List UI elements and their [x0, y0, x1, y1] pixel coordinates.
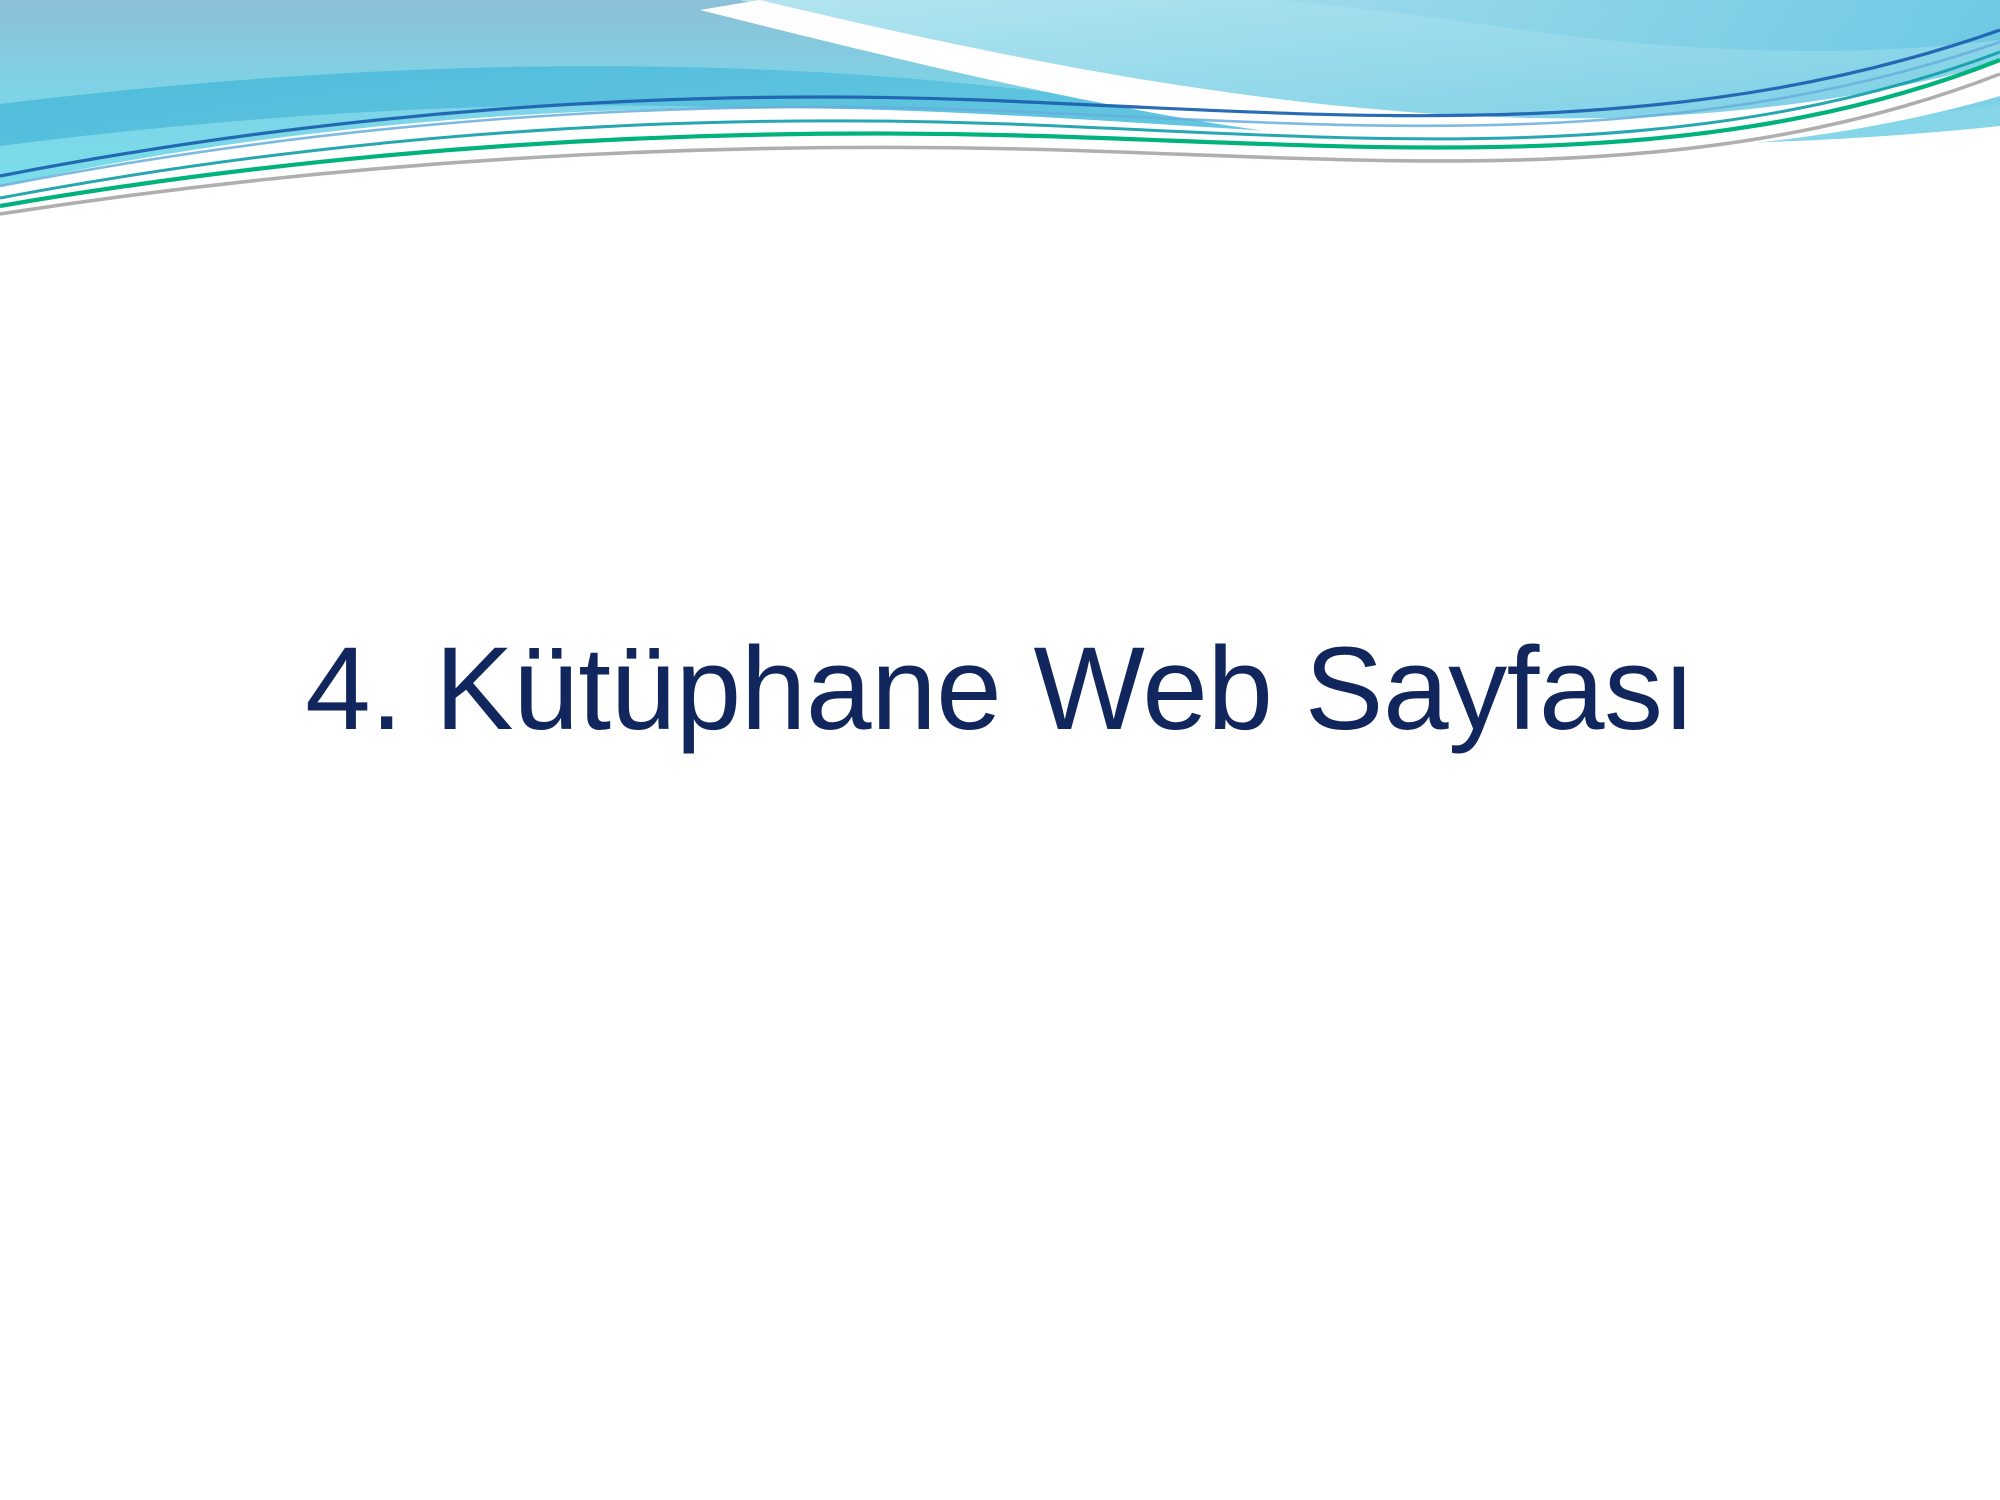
slide: 4. Kütüphane Web Sayfası	[0, 0, 2000, 1500]
wave-banner-decoration	[0, 0, 2000, 230]
slide-title: 4. Kütüphane Web Sayfası	[0, 620, 2000, 759]
slide-title-block: 4. Kütüphane Web Sayfası	[0, 620, 2000, 759]
